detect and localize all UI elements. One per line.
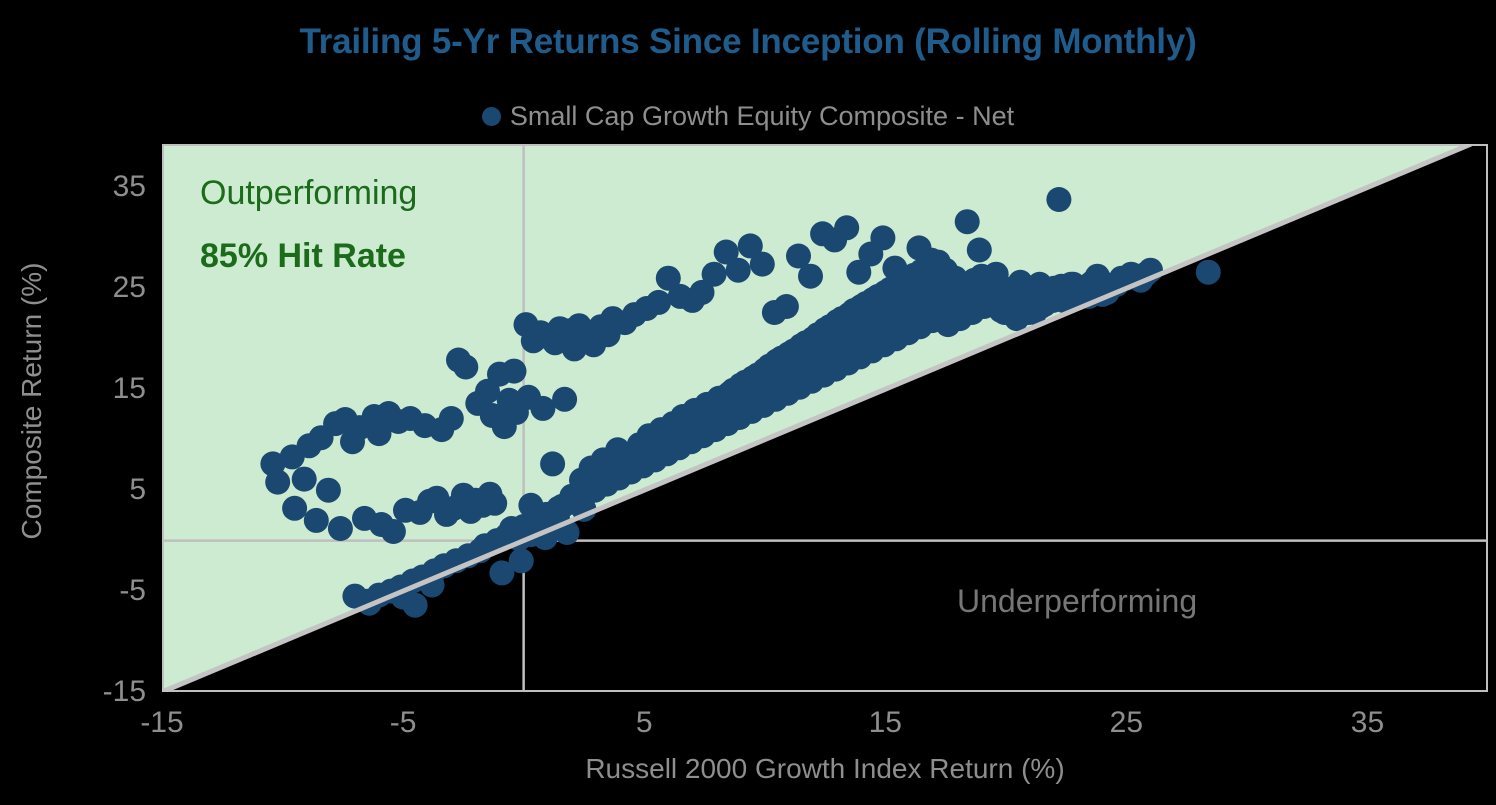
underperforming-annotation: Underperforming: [957, 583, 1197, 620]
scatter-point: [502, 359, 527, 384]
scatter-point: [1196, 260, 1221, 285]
y-axis-label-wrap: Composite Return (%): [0, 0, 46, 805]
series-dot-marker-icon: [482, 107, 501, 126]
scatter-point: [282, 496, 307, 521]
scatter-point: [265, 470, 290, 495]
page-title: Trailing 5-Yr Returns Since Inception (R…: [0, 22, 1496, 62]
x-axis-tick-label: -15: [140, 706, 183, 740]
y-axis-label: Composite Return (%): [16, 201, 48, 601]
x-axis-tick-label: 15: [869, 706, 902, 740]
y-axis-tick-label: 5: [129, 473, 146, 507]
legend-label: Small Cap Growth Equity Composite - Net: [510, 101, 1014, 132]
scatter-point: [439, 406, 464, 431]
scatter-point: [304, 508, 329, 533]
scatter-point: [750, 252, 775, 277]
scatter-point: [482, 491, 507, 516]
scatter-point: [955, 209, 980, 234]
scatter-point: [967, 238, 992, 263]
y-axis-tick-label: 35: [113, 170, 146, 204]
scatter-point: [530, 396, 555, 421]
scatter-point: [453, 355, 478, 380]
scatter-chart: Trailing 5-Yr Returns Since Inception (R…: [0, 0, 1496, 805]
plot-svg: [162, 144, 1488, 692]
scatter-point: [774, 294, 799, 319]
scatter-point: [870, 225, 895, 250]
scatter-point: [552, 387, 577, 412]
x-axis-tick-label: 25: [1110, 706, 1143, 740]
plot-area: [162, 144, 1488, 692]
x-axis-tick-label: 35: [1351, 706, 1384, 740]
scatter-point: [1046, 187, 1071, 212]
scatter-point: [646, 290, 671, 315]
chart-legend: Small Cap Growth Equity Composite - Net: [0, 101, 1496, 132]
scatter-point: [328, 516, 353, 541]
scatter-point: [292, 467, 317, 492]
x-axis-tick-label: 5: [636, 706, 653, 740]
hit-rate-annotation: 85% Hit Rate: [200, 237, 406, 276]
scatter-point: [509, 548, 534, 573]
x-axis-tick-label: -5: [390, 706, 417, 740]
scatter-point: [540, 451, 565, 476]
outperforming-annotation: Outperforming: [200, 174, 417, 213]
y-axis-tick-label: 15: [113, 372, 146, 406]
y-axis-tick-label: -15: [103, 675, 146, 709]
scatter-point: [834, 215, 859, 240]
scatter-point: [726, 258, 751, 283]
scatter-point: [381, 519, 406, 544]
y-axis-tick-label: -5: [119, 574, 146, 608]
x-axis-label: Russell 2000 Growth Index Return (%): [162, 753, 1488, 785]
scatter-point: [316, 478, 341, 503]
scatter-point: [702, 262, 727, 287]
y-axis-tick-label: 25: [113, 271, 146, 305]
scatter-point: [798, 264, 823, 289]
